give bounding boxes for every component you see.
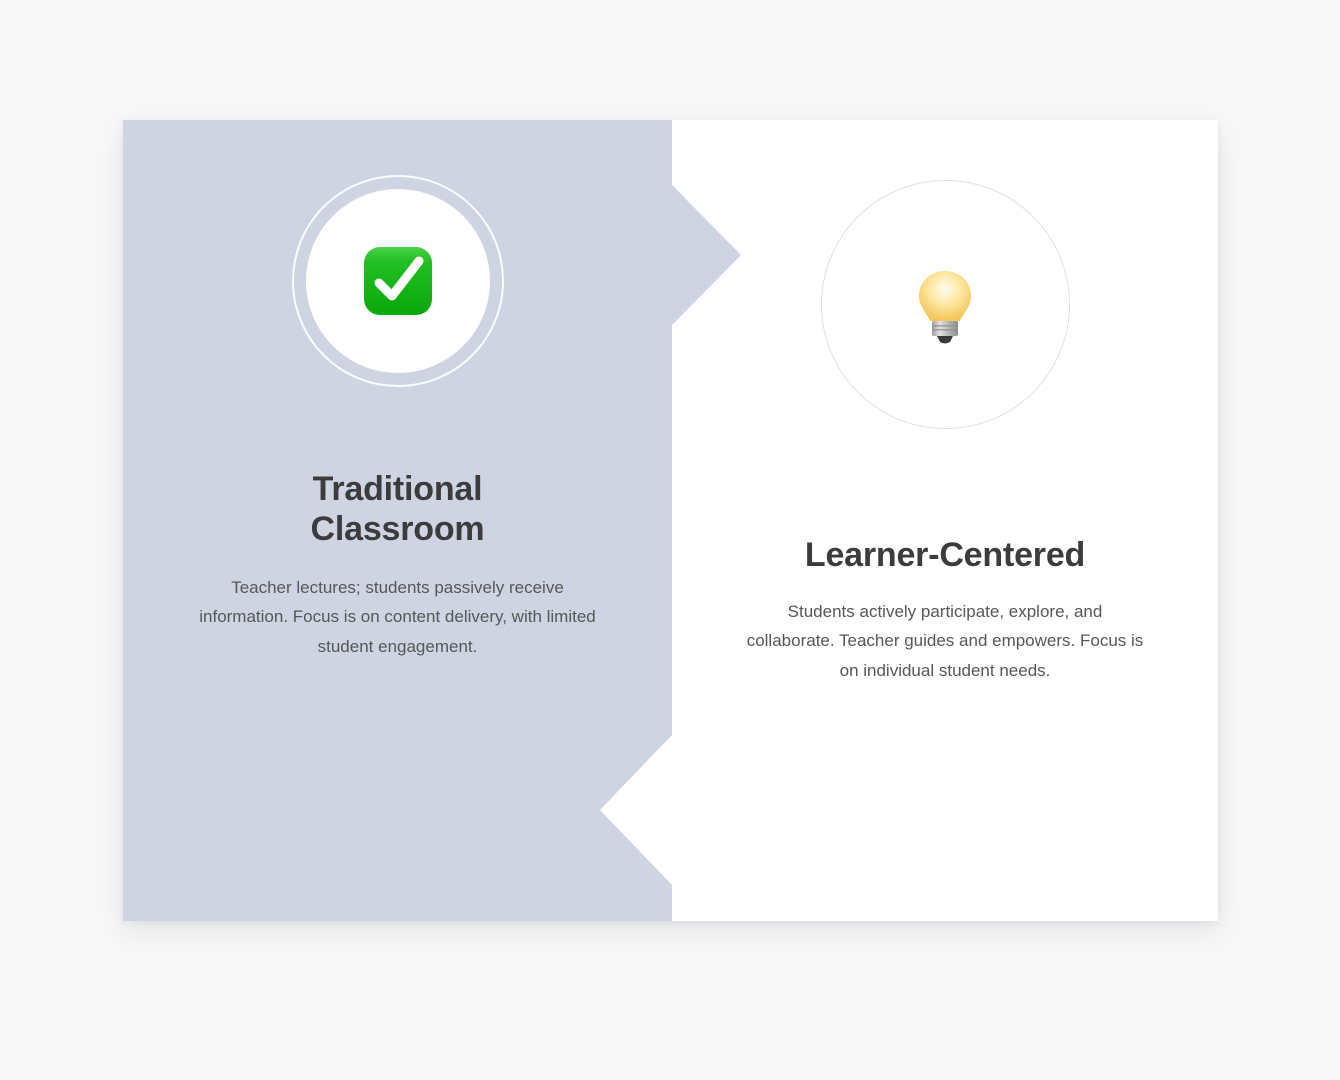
comparison-slide: Traditional Classroom Teacher lectures; … [0, 0, 1340, 1080]
learner-panel-title: Learner-Centered [730, 535, 1160, 575]
white-heavy-check-mark-icon [350, 233, 446, 329]
learner-icon-badge [821, 180, 1070, 429]
light-bulb-icon [901, 261, 989, 349]
traditional-panel-description: Teacher lectures; students passively rec… [193, 573, 603, 661]
traditional-panel-title: Traditional Classroom [248, 469, 548, 549]
traditional-classroom-panel: Traditional Classroom Teacher lectures; … [123, 120, 672, 921]
learner-panel-description: Students actively participate, explore, … [745, 597, 1145, 685]
comparison-card: Traditional Classroom Teacher lectures; … [123, 120, 1218, 921]
traditional-icon-badge [306, 189, 490, 373]
learner-centered-panel: Learner-Centered Students actively parti… [672, 120, 1218, 921]
